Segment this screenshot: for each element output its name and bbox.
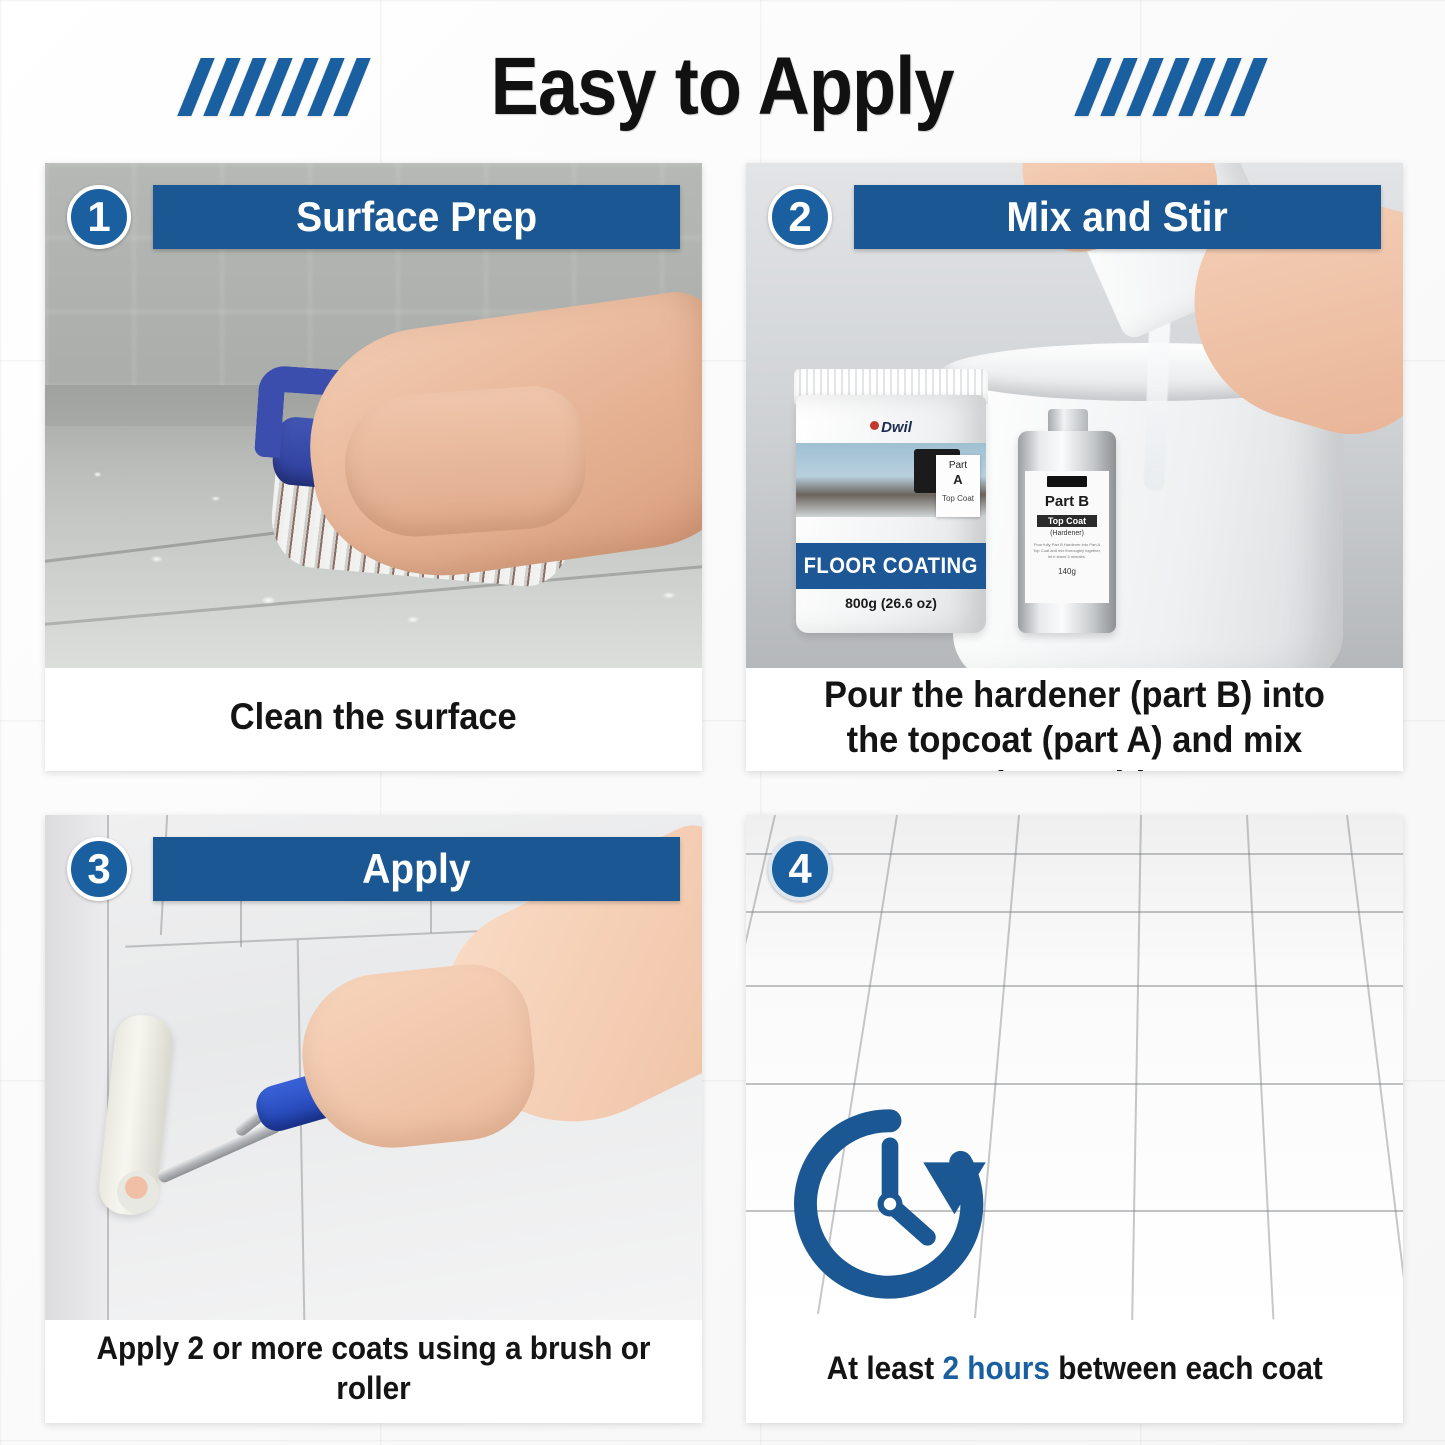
step-1-photo: 1 Surface Prep	[45, 163, 702, 668]
part-a-tag-line3: Top Coat	[936, 494, 980, 503]
grout-line	[746, 1083, 1403, 1085]
step-card-3: 3 Apply Apply 2 or more coats using a br…	[45, 815, 702, 1423]
bottle-part-label: Part B	[1025, 493, 1109, 510]
clock-arrow-icon	[786, 1100, 994, 1308]
step-card-2: Dwil Part A Top Coat FLOOR COATING 800g …	[746, 163, 1403, 771]
step-badge-3: 3	[67, 837, 131, 901]
step-1-caption: Clean the surface	[45, 668, 702, 771]
part-a-tag: Part A Top Coat	[936, 455, 980, 517]
bottle-topcoat-label: Top Coat	[1037, 515, 1097, 527]
step-4-caption: At least 2 hours between each coat	[746, 1320, 1403, 1423]
steps-grid: 1 Surface Prep Clean the surface	[45, 163, 1403, 1403]
step-4-caption-highlight: 2 hours	[942, 1350, 1049, 1386]
bottle-brand-logo	[1047, 476, 1087, 487]
step-3-caption-text: Apply 2 or more coats using a brush or r…	[83, 1329, 664, 1407]
step-2-caption-line1: Pour the hardener (part B) into	[784, 672, 1365, 717]
jar-product-band: FLOOR COATING	[796, 543, 986, 589]
step-2-caption-text: Pour the hardener (part B) into the topc…	[784, 672, 1365, 771]
step-1-banner: Surface Prep	[153, 185, 680, 249]
bottle-fine-print: Pour fully Part B Hardener into Part A T…	[1031, 542, 1103, 560]
step-4-caption-before: At least	[826, 1350, 942, 1386]
stripes-right-decoration	[1086, 58, 1256, 116]
step-3-banner: Apply	[153, 837, 680, 901]
stripes-left-decoration	[189, 58, 359, 116]
bottle-hardener-label: (Hardener)	[1025, 530, 1109, 537]
part-a-tag-line1: Part	[936, 461, 980, 472]
step-1-caption-text: Clean the surface	[230, 694, 517, 739]
floor-coating-jar: Dwil Part A Top Coat FLOOR COATING 800g …	[796, 395, 986, 633]
step-2-banner-label: Mix and Stir	[1007, 193, 1228, 241]
brand-dot-icon	[870, 421, 879, 430]
page-title: Easy to Apply	[491, 40, 954, 134]
step-4-caption-after: between each coat	[1050, 1350, 1323, 1386]
step-2-photo: Dwil Part A Top Coat FLOOR COATING 800g …	[746, 163, 1403, 668]
step-3-banner-label: Apply	[362, 845, 471, 893]
page-background: Easy to Apply	[0, 0, 1445, 1445]
header: Easy to Apply	[0, 24, 1445, 149]
step-4-photo: 4	[746, 815, 1403, 1320]
grout-line	[746, 985, 1403, 987]
grout-line	[746, 911, 1403, 913]
step-badge-1: 1	[67, 185, 131, 249]
step-2-banner: Mix and Stir	[854, 185, 1381, 249]
step-4-caption-text: At least 2 hours between each coat	[826, 1349, 1322, 1388]
jar-brand-label: Dwil	[796, 419, 986, 436]
step-2-caption: Pour the hardener (part B) into the topc…	[746, 668, 1403, 771]
step-2-header-row: 2 Mix and Stir	[768, 185, 1381, 249]
step-3-photo: 3 Apply	[45, 815, 702, 1320]
bottle-label: Part B Top Coat (Hardener) Pour fully Pa…	[1025, 471, 1109, 603]
bottle-weight-label: 140g	[1025, 567, 1109, 576]
step-3-caption: Apply 2 or more coats using a brush or r…	[45, 1320, 702, 1423]
step-1-header-row: 1 Surface Prep	[67, 185, 680, 249]
hardener-bottle: Part B Top Coat (Hardener) Pour fully Pa…	[1018, 431, 1116, 633]
jar-product-name: FLOOR COATING	[804, 553, 978, 579]
jar-brand-text: Dwil	[881, 419, 912, 436]
step-4-header-row: 4	[768, 837, 1381, 901]
step-badge-4: 4	[768, 837, 832, 901]
jar-weight-label: 800g (26.6 oz)	[796, 595, 986, 611]
step-2-caption-line2: the topcoat (part A) and mix thoroughly	[784, 717, 1365, 771]
step-3-header-row: 3 Apply	[67, 837, 680, 901]
step-card-4: 4 At least 2 hours between each coat	[746, 815, 1403, 1423]
fingers	[340, 383, 589, 541]
step-1-banner-label: Surface Prep	[296, 193, 537, 241]
part-a-tag-line2: A	[936, 472, 980, 487]
step-card-1: 1 Surface Prep Clean the surface	[45, 163, 702, 771]
step-badge-2: 2	[768, 185, 832, 249]
